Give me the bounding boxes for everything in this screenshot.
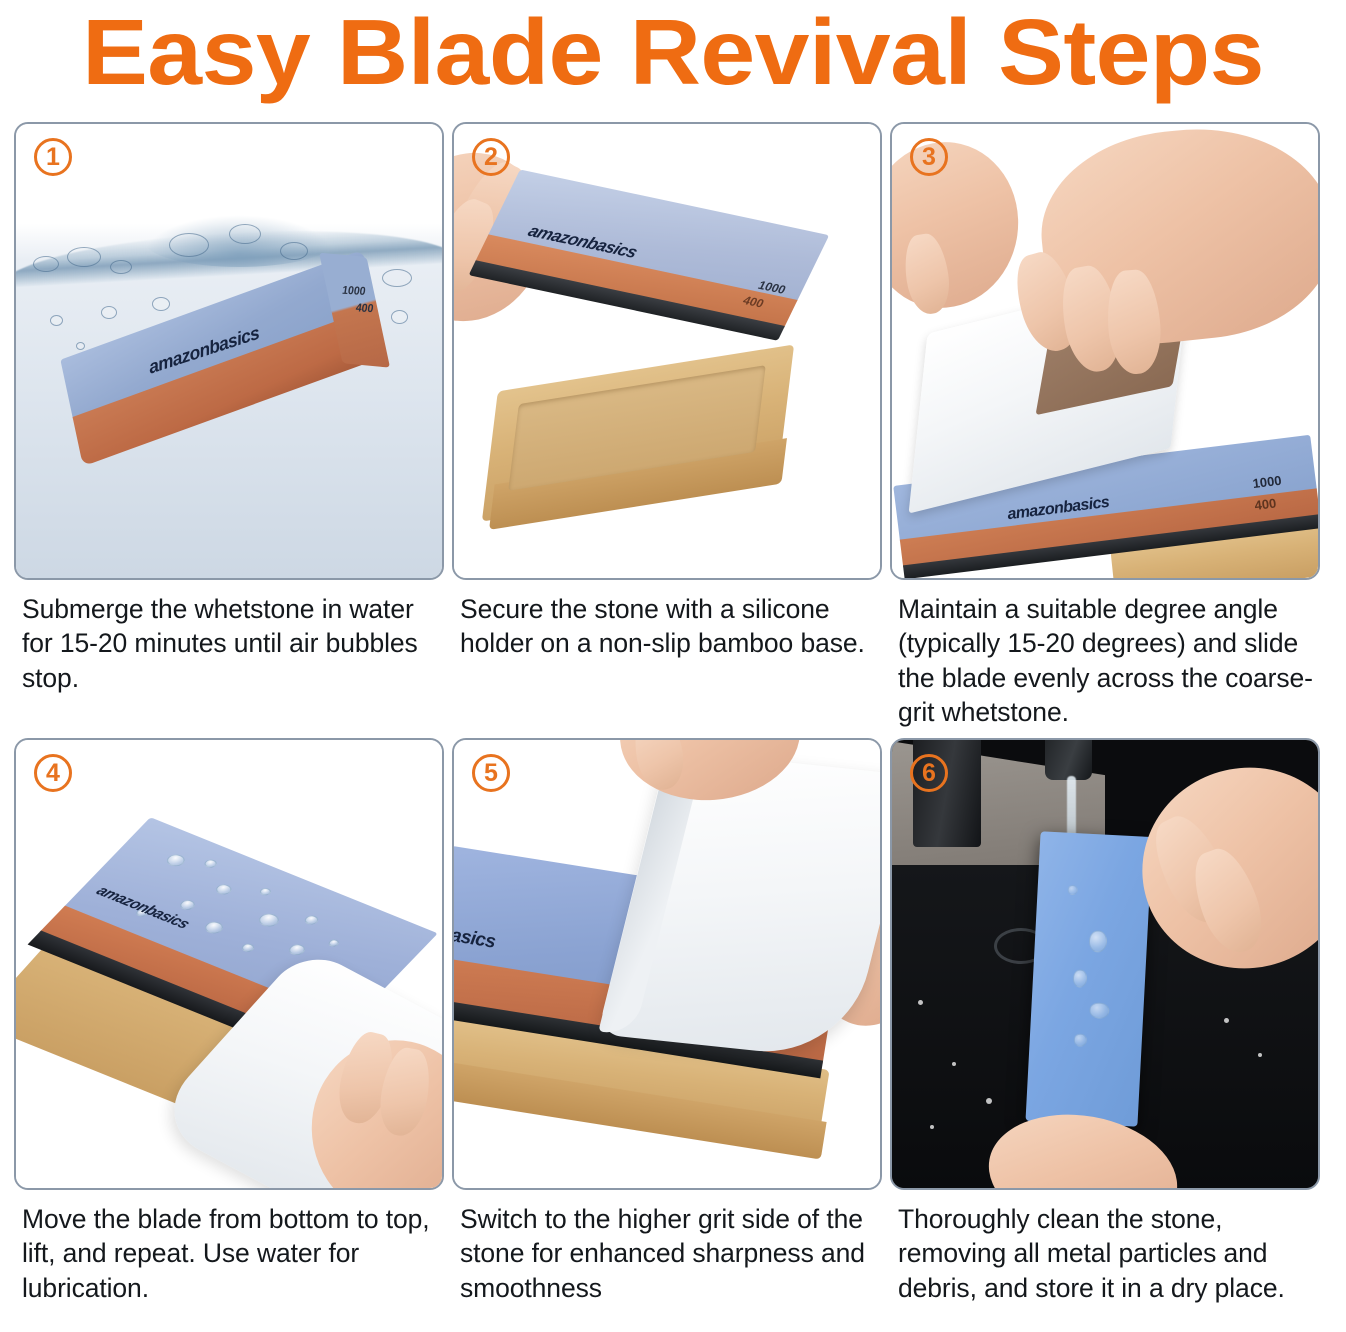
grit-label-400: 400 (1254, 495, 1277, 513)
air-bubble (50, 315, 63, 326)
step-card-3: amazonbasics 1000 400 3 Maintain a suita… (890, 122, 1320, 730)
water-droplet (1088, 930, 1107, 953)
step-badge-1: 1 (34, 138, 72, 176)
air-bubble (101, 306, 117, 319)
steps-grid: 1000 400 amazonbasics 1 Submerge the whe… (8, 122, 1338, 1305)
foam-bubble (169, 233, 209, 257)
water-speck (952, 1062, 956, 1066)
air-bubble (391, 310, 408, 324)
water-speck (986, 1098, 992, 1104)
infographic-page: Easy Blade Revival Steps (0, 0, 1346, 1332)
water-droplet (1073, 1033, 1087, 1047)
step-badge-4: 4 (34, 754, 72, 792)
step-card-4: amazonbasics (14, 738, 444, 1305)
grit-label-400: 400 (355, 302, 374, 315)
step-caption-1: Submerge the whetstone in water for 15-2… (14, 580, 444, 695)
step-badge-2: 2 (472, 138, 510, 176)
step-caption-6: Thoroughly clean the stone, removing all… (890, 1190, 1320, 1305)
air-bubble (152, 297, 170, 311)
page-title: Easy Blade Revival Steps (0, 0, 1346, 122)
whetstone: 1000 400 amazonbasics (60, 250, 385, 467)
step-caption-4: Move the blade from bottom to top, lift,… (14, 1190, 444, 1305)
step-badge-6: 6 (910, 754, 948, 792)
water-speck (918, 1000, 923, 1005)
step-badge-5: 5 (472, 754, 510, 792)
step-photo-2: amazonbasics 1000 400 2 (452, 122, 882, 580)
step-photo-5: basics 1000 400 5 (452, 738, 882, 1190)
step-caption-2: Secure the stone with a silicone holder … (452, 580, 882, 661)
step-photo-3: amazonbasics 1000 400 3 (890, 122, 1320, 580)
water-droplet (1067, 885, 1078, 896)
sink-scene (892, 740, 1318, 1188)
water-droplet (1089, 1002, 1110, 1019)
water-speck (1224, 1018, 1229, 1023)
foam-bubble (382, 269, 412, 287)
step-badge-3: 3 (910, 138, 948, 176)
whetstone (1025, 831, 1152, 1126)
grit-label-1000: 1000 (341, 284, 366, 298)
water-scene: 1000 400 amazonbasics (16, 124, 442, 578)
foam-bubble (280, 242, 308, 260)
step-card-5: basics 1000 400 5 Switch to the higher g… (452, 738, 882, 1305)
foam-bubble (67, 247, 101, 267)
step-photo-6: 6 (890, 738, 1320, 1190)
faucet-spout (1045, 738, 1092, 780)
step-caption-3: Maintain a suitable degree angle (typica… (890, 580, 1320, 730)
step-photo-4: amazonbasics (14, 738, 444, 1190)
step-card-6: 6 Thoroughly clean the stone, removing a… (890, 738, 1320, 1305)
step-caption-5: Switch to the higher grit side of the st… (452, 1190, 882, 1305)
foam-bubble (33, 256, 59, 272)
foam-bubble (110, 260, 132, 274)
foam-bubble (229, 224, 261, 244)
air-bubble (76, 342, 85, 350)
step-card-1: 1000 400 amazonbasics 1 Submerge the whe… (14, 122, 444, 730)
step-card-2: amazonbasics 1000 400 2 Secure the stone… (452, 122, 882, 730)
water-droplet (1072, 969, 1087, 988)
step-photo-1: 1000 400 amazonbasics 1 (14, 122, 444, 580)
